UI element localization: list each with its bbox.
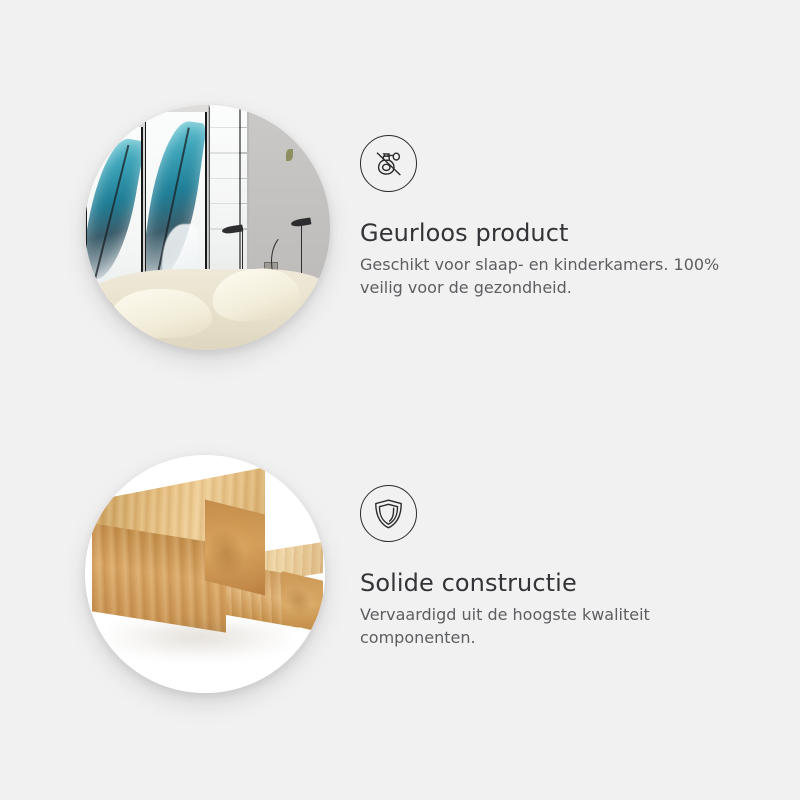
- pillow-left: [110, 289, 213, 338]
- feature-block-geurloos: Geurloos product Geschikt voor slaap- en…: [0, 40, 800, 400]
- wooden-beams-photo: [85, 455, 325, 693]
- bedroom-scene: [85, 105, 330, 350]
- wood-scene: [85, 455, 325, 693]
- feather-rachis: [94, 145, 129, 280]
- lamp-stem-right: [301, 220, 303, 274]
- feature-description: Vervaardigd uit de hoogste kwaliteit com…: [360, 604, 745, 649]
- main-beam-end-grain: [205, 500, 265, 596]
- feature-block-solide: Solide constructie Vervaardigd uit de ho…: [0, 400, 800, 760]
- feature-title: Solide constructie: [360, 570, 760, 596]
- feature-list-page: Geurloos product Geschikt voor slaap- en…: [0, 0, 800, 800]
- feature-text-solide: Solide constructie Vervaardigd uit de ho…: [360, 485, 760, 650]
- shield-glyph: [373, 497, 404, 531]
- photo-inner: [85, 455, 325, 693]
- no-fragrance-icon: [360, 135, 417, 192]
- feature-title: Geurloos product: [360, 220, 760, 246]
- wood-drop-shadow: [109, 622, 289, 660]
- photo-inner: [85, 105, 330, 350]
- feature-description: Geschikt voor slaap- en kinderkamers. 10…: [360, 254, 745, 299]
- feather-shape: [87, 135, 141, 284]
- feature-text-geurloos: Geurloos product Geschikt voor slaap- en…: [360, 135, 760, 300]
- bedroom-feather-triptych-photo: [85, 105, 330, 350]
- no-fragrance-glyph: [372, 147, 406, 181]
- shield-icon: [360, 485, 417, 542]
